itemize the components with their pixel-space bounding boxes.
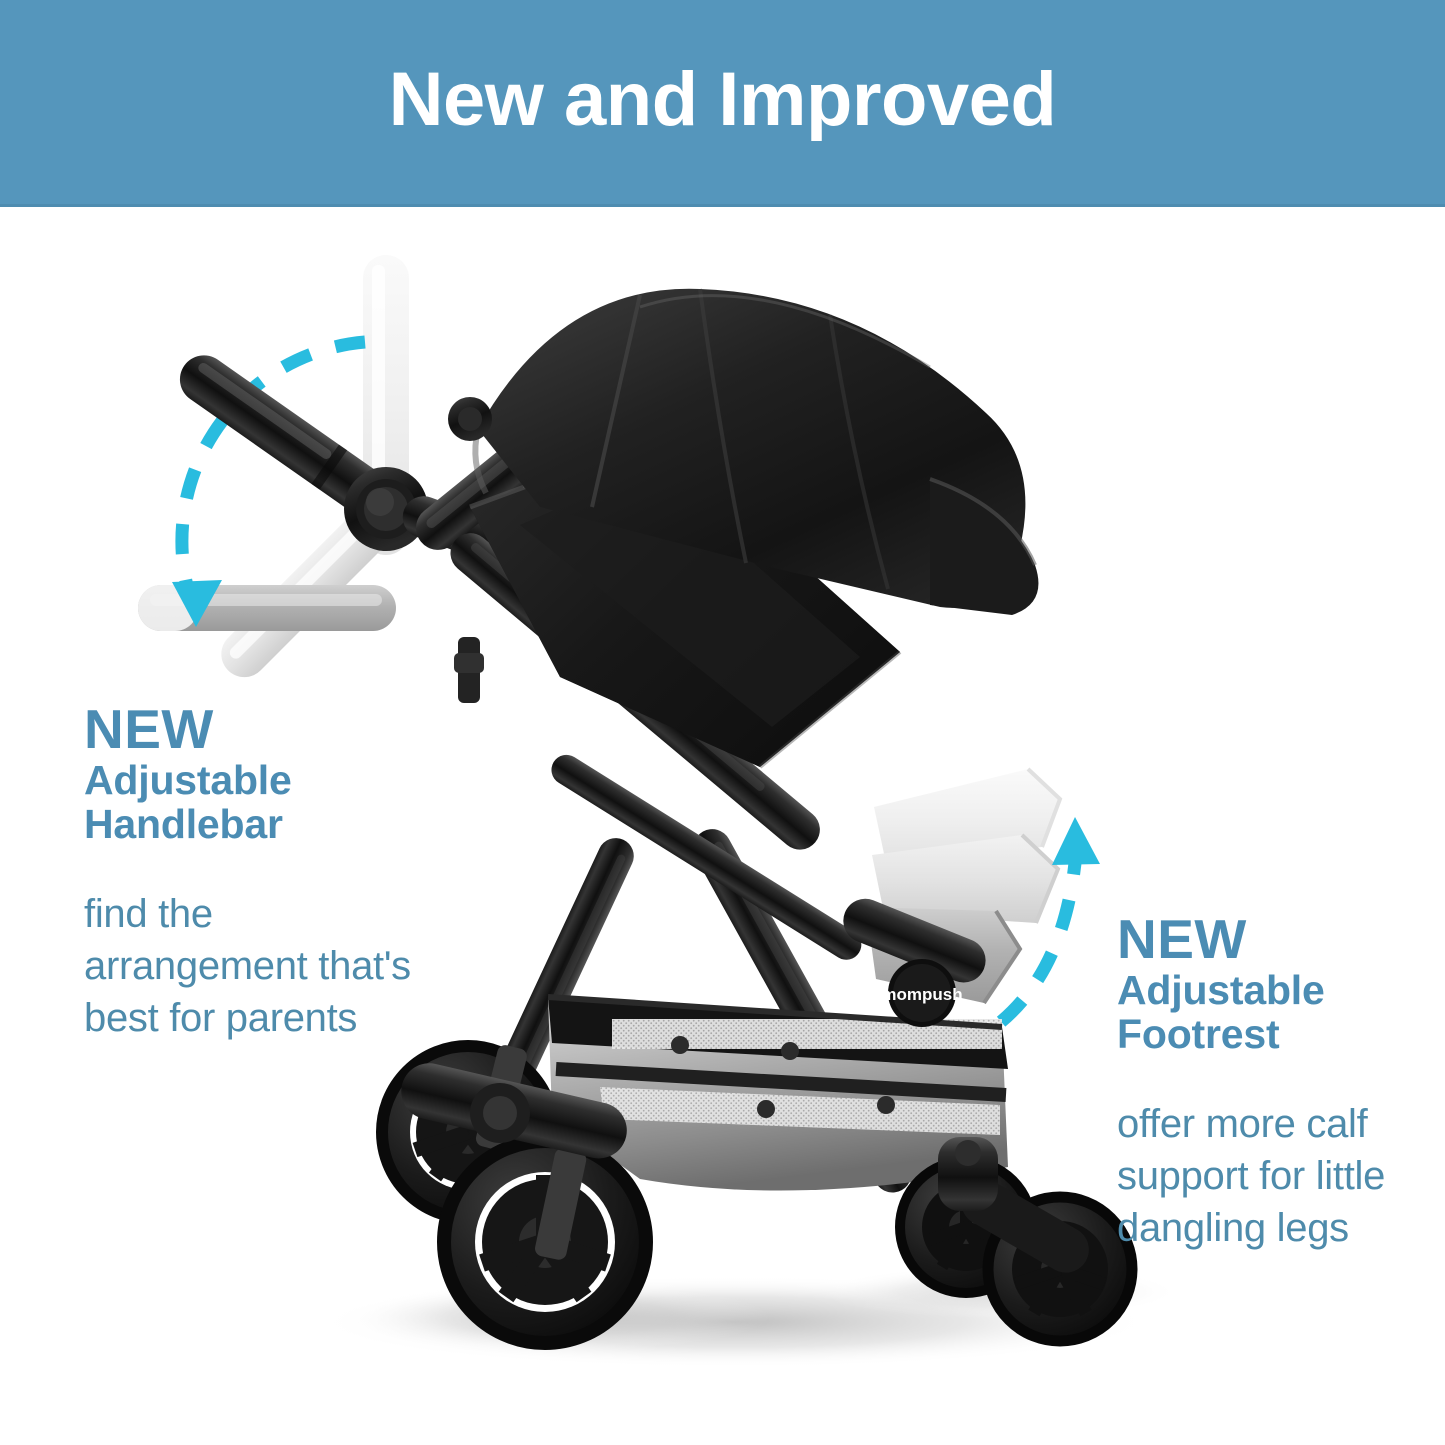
callout-footrest-feature-line1: Adjustable	[1117, 968, 1437, 1012]
callout-footrest: NEW Adjustable Footrest offer more calf …	[1117, 910, 1437, 1254]
callout-handlebar-feature-line1: Adjustable	[84, 758, 414, 802]
callout-handlebar-feature-line2: Handlebar	[84, 802, 414, 846]
product-marketing-image: New and Improved	[0, 0, 1445, 1445]
header-banner: New and Improved	[0, 0, 1445, 207]
callout-footrest-description: offer more calf support for little dangl…	[1117, 1098, 1437, 1254]
canopy-hinge	[448, 397, 492, 441]
callout-handlebar-new-label: NEW	[84, 700, 414, 758]
callout-footrest-feature-line2: Footrest	[1117, 1012, 1437, 1056]
brand-label: mompush	[881, 985, 962, 1004]
callout-handlebar-description: find the arrangement that's best for par…	[84, 888, 414, 1044]
banner-title: New and Improved	[0, 0, 1445, 200]
callout-handlebar: NEW Adjustable Handlebar find the arrang…	[84, 700, 414, 1044]
seat-strap	[454, 637, 484, 703]
callout-footrest-new-label: NEW	[1117, 910, 1437, 968]
handlebar-ghost-horizontal	[138, 585, 396, 631]
footrest-ghost-positions	[837, 769, 1060, 1003]
rear-axle	[938, 1137, 998, 1211]
